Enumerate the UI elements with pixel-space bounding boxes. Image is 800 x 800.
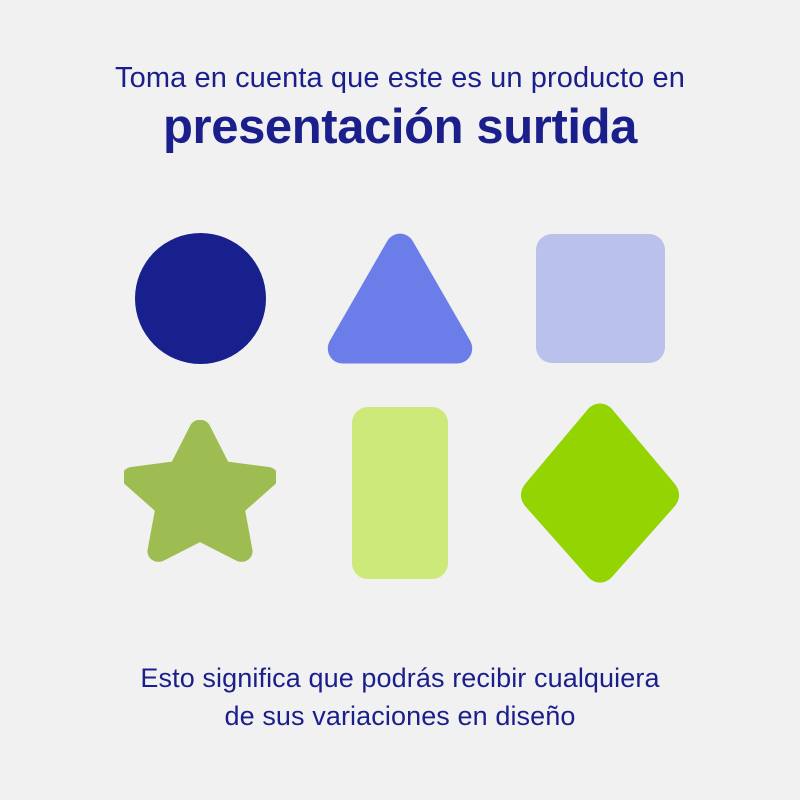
shape-cell-circle: [105, 203, 295, 393]
circle-shape-icon: [135, 233, 266, 364]
assorted-presentation-poster: Toma en cuenta que este es un producto e…: [0, 0, 800, 800]
footer-line-2: de sus variaciones en diseño: [0, 697, 800, 735]
star-shape-icon: [124, 420, 276, 566]
shape-cell-rectangle: [305, 398, 495, 588]
headline-block: Toma en cuenta que este es un producto e…: [0, 58, 800, 156]
footer-block: Esto significa que podrás recibir cualqu…: [0, 659, 800, 735]
shape-cell-diamond: [505, 398, 695, 588]
headline-line-2: presentación surtida: [0, 98, 800, 156]
square-shape-icon: [536, 234, 665, 363]
rectangle-shape-icon: [352, 407, 448, 579]
triangle-shape-icon: [324, 230, 476, 366]
headline-line-1: Toma en cuenta que este es un producto e…: [0, 58, 800, 98]
shape-cell-star: [105, 398, 295, 588]
shape-cell-triangle: [305, 203, 495, 393]
footer-line-1: Esto significa que podrás recibir cualqu…: [0, 659, 800, 697]
diamond-shape-icon: [518, 401, 682, 585]
shape-grid: [100, 203, 700, 593]
shape-cell-square: [505, 203, 695, 393]
